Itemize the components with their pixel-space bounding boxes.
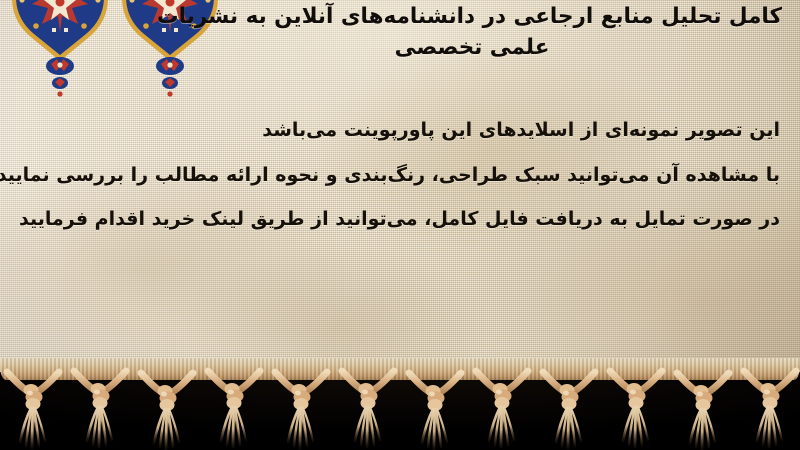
slide-title: کامل تحلیل منابع ارجاعی در دانشنامه‌های … — [162, 2, 782, 63]
rug-woven-edge-band — [0, 358, 800, 380]
slide-body-line-1: این تصویر نمونه‌ای از اسلایدهای این پاور… — [18, 108, 780, 153]
slide-title-line-1: کامل تحلیل منابع ارجاعی در دانشنامه‌های … — [162, 2, 782, 33]
slide-body-line-3: در صورت تمایل به دریافت فایل کامل، می‌تو… — [18, 197, 780, 242]
text-layer: کامل تحلیل منابع ارجاعی در دانشنامه‌های … — [0, 0, 800, 372]
slide-canvas: کامل تحلیل منابع ارجاعی در دانشنامه‌های … — [0, 0, 800, 450]
slide-body-line-2: با مشاهده آن می‌توانید سبک طراحی، رنگ‌بن… — [18, 153, 780, 198]
black-background-field — [0, 374, 800, 450]
slide-title-line-2: علمی تخصصی — [162, 33, 782, 64]
slide-body: این تصویر نمونه‌ای از اسلایدهای این پاور… — [18, 108, 780, 242]
